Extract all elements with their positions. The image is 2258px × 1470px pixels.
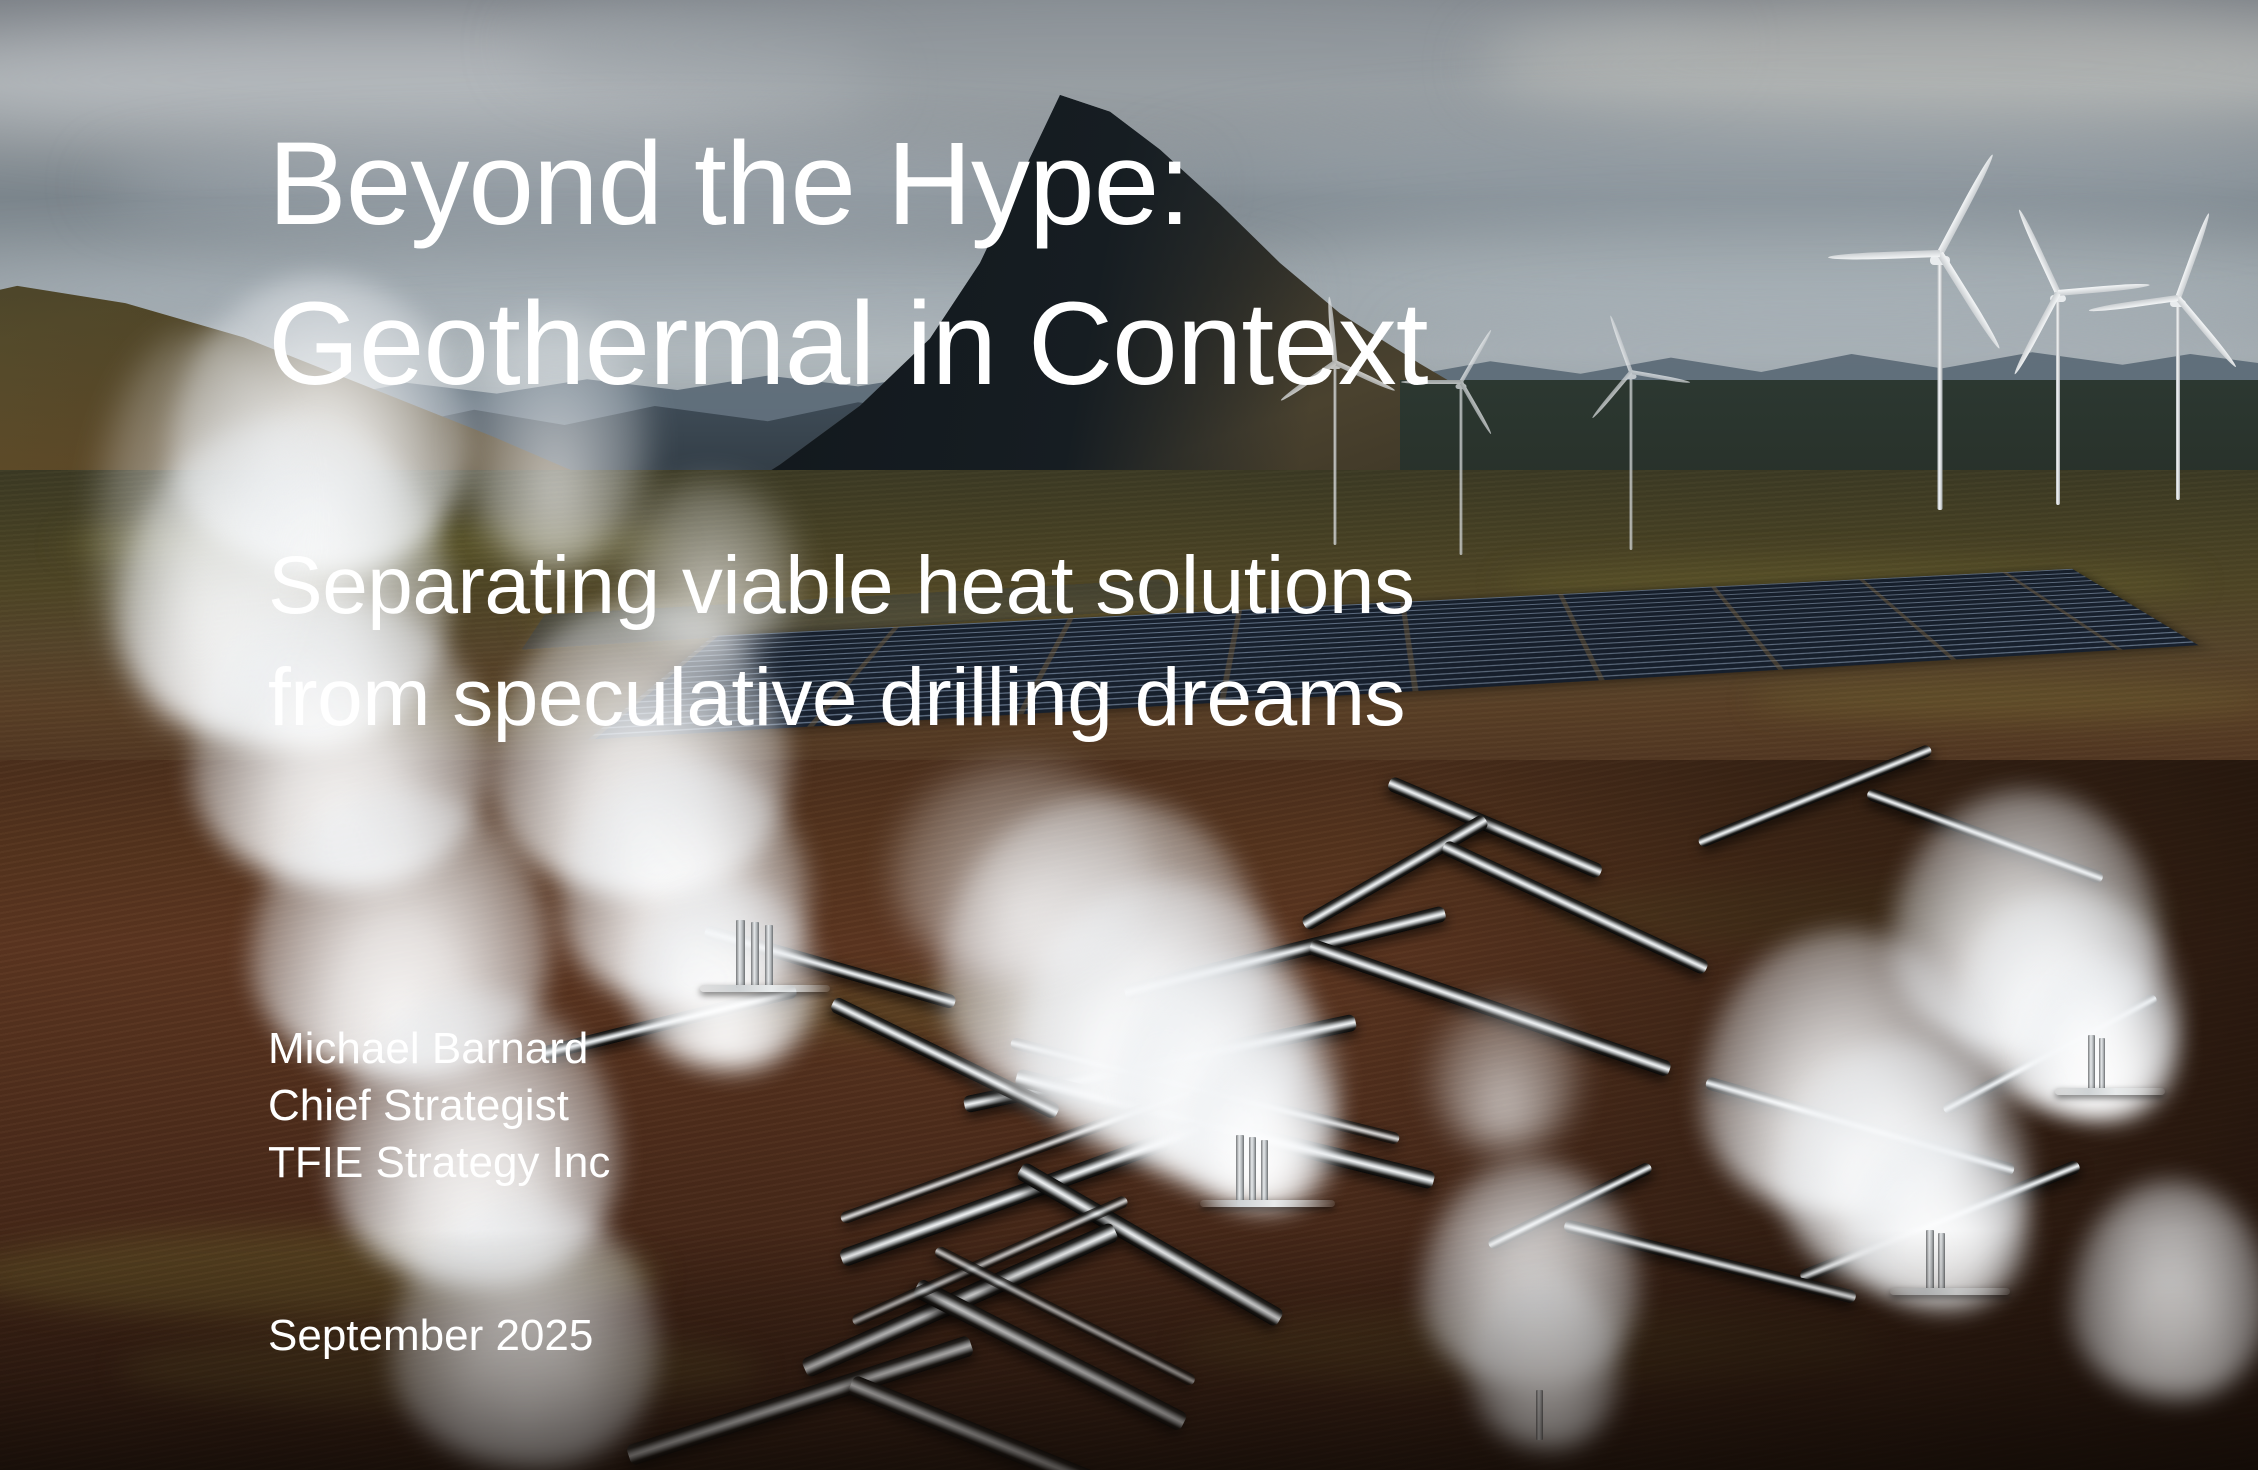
- presentation-date: September 2025: [268, 1307, 593, 1364]
- slide-subtitle: Separating viable heat solutions from sp…: [268, 530, 1968, 753]
- author-name: Michael Barnard: [268, 1020, 610, 1077]
- subtitle-line-1: Separating viable heat solutions: [268, 530, 1968, 642]
- date-block: September 2025: [268, 1307, 593, 1364]
- subtitle-line-2: from speculative drilling dreams: [268, 642, 1968, 754]
- page-title: Beyond the Hype: Geothermal in Context: [268, 104, 1908, 425]
- author-organization: TFIE Strategy Inc: [268, 1134, 610, 1191]
- author-role: Chief Strategist: [268, 1077, 610, 1134]
- title-line-2: Geothermal in Context: [268, 264, 1908, 424]
- title-line-1: Beyond the Hype:: [268, 104, 1908, 264]
- title-slide: Beyond the Hype: Geothermal in Context S…: [0, 0, 2258, 1470]
- slide-text-layer: Beyond the Hype: Geothermal in Context S…: [0, 0, 2258, 1470]
- author-block: Michael Barnard Chief Strategist TFIE St…: [268, 1020, 610, 1192]
